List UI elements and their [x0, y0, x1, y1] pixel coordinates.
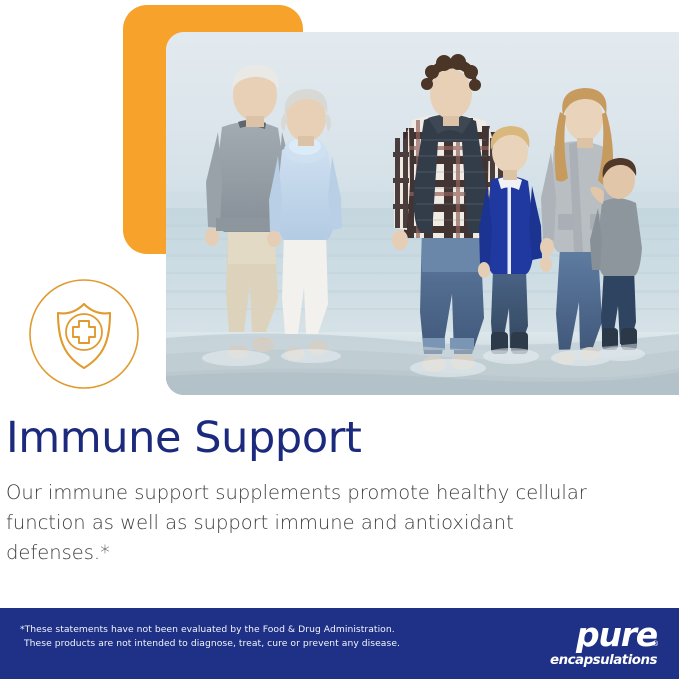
immune-shield-badge — [28, 278, 140, 390]
brand-name-encapsulations: encapsulations — [550, 653, 657, 668]
page-title: Immune Support — [6, 412, 646, 464]
brand-subname-wrap: encapsulations ® — [525, 651, 657, 669]
page-subtitle: Our immune support supplements promote h… — [6, 478, 606, 568]
family-beach-photo — [166, 32, 679, 395]
fda-disclaimer: *These statements have not been evaluate… — [20, 623, 460, 651]
fda-disclaimer-line-2: These products are not intended to diagn… — [20, 637, 460, 651]
pure-encapsulations-logo: pure encapsulations ® — [525, 620, 657, 666]
footer-band: *These statements have not been evaluate… — [0, 608, 679, 679]
brand-name-pure: pure — [525, 620, 657, 650]
product-category-banner: Immune Support Our immune support supple… — [0, 0, 679, 679]
hero-photo — [166, 32, 679, 395]
fda-disclaimer-line-1: *These statements have not been evaluate… — [20, 624, 395, 635]
registered-trademark-icon: ® — [653, 641, 658, 648]
shield-cross-icon — [28, 278, 140, 390]
content-block: Immune Support Our immune support supple… — [6, 412, 646, 568]
